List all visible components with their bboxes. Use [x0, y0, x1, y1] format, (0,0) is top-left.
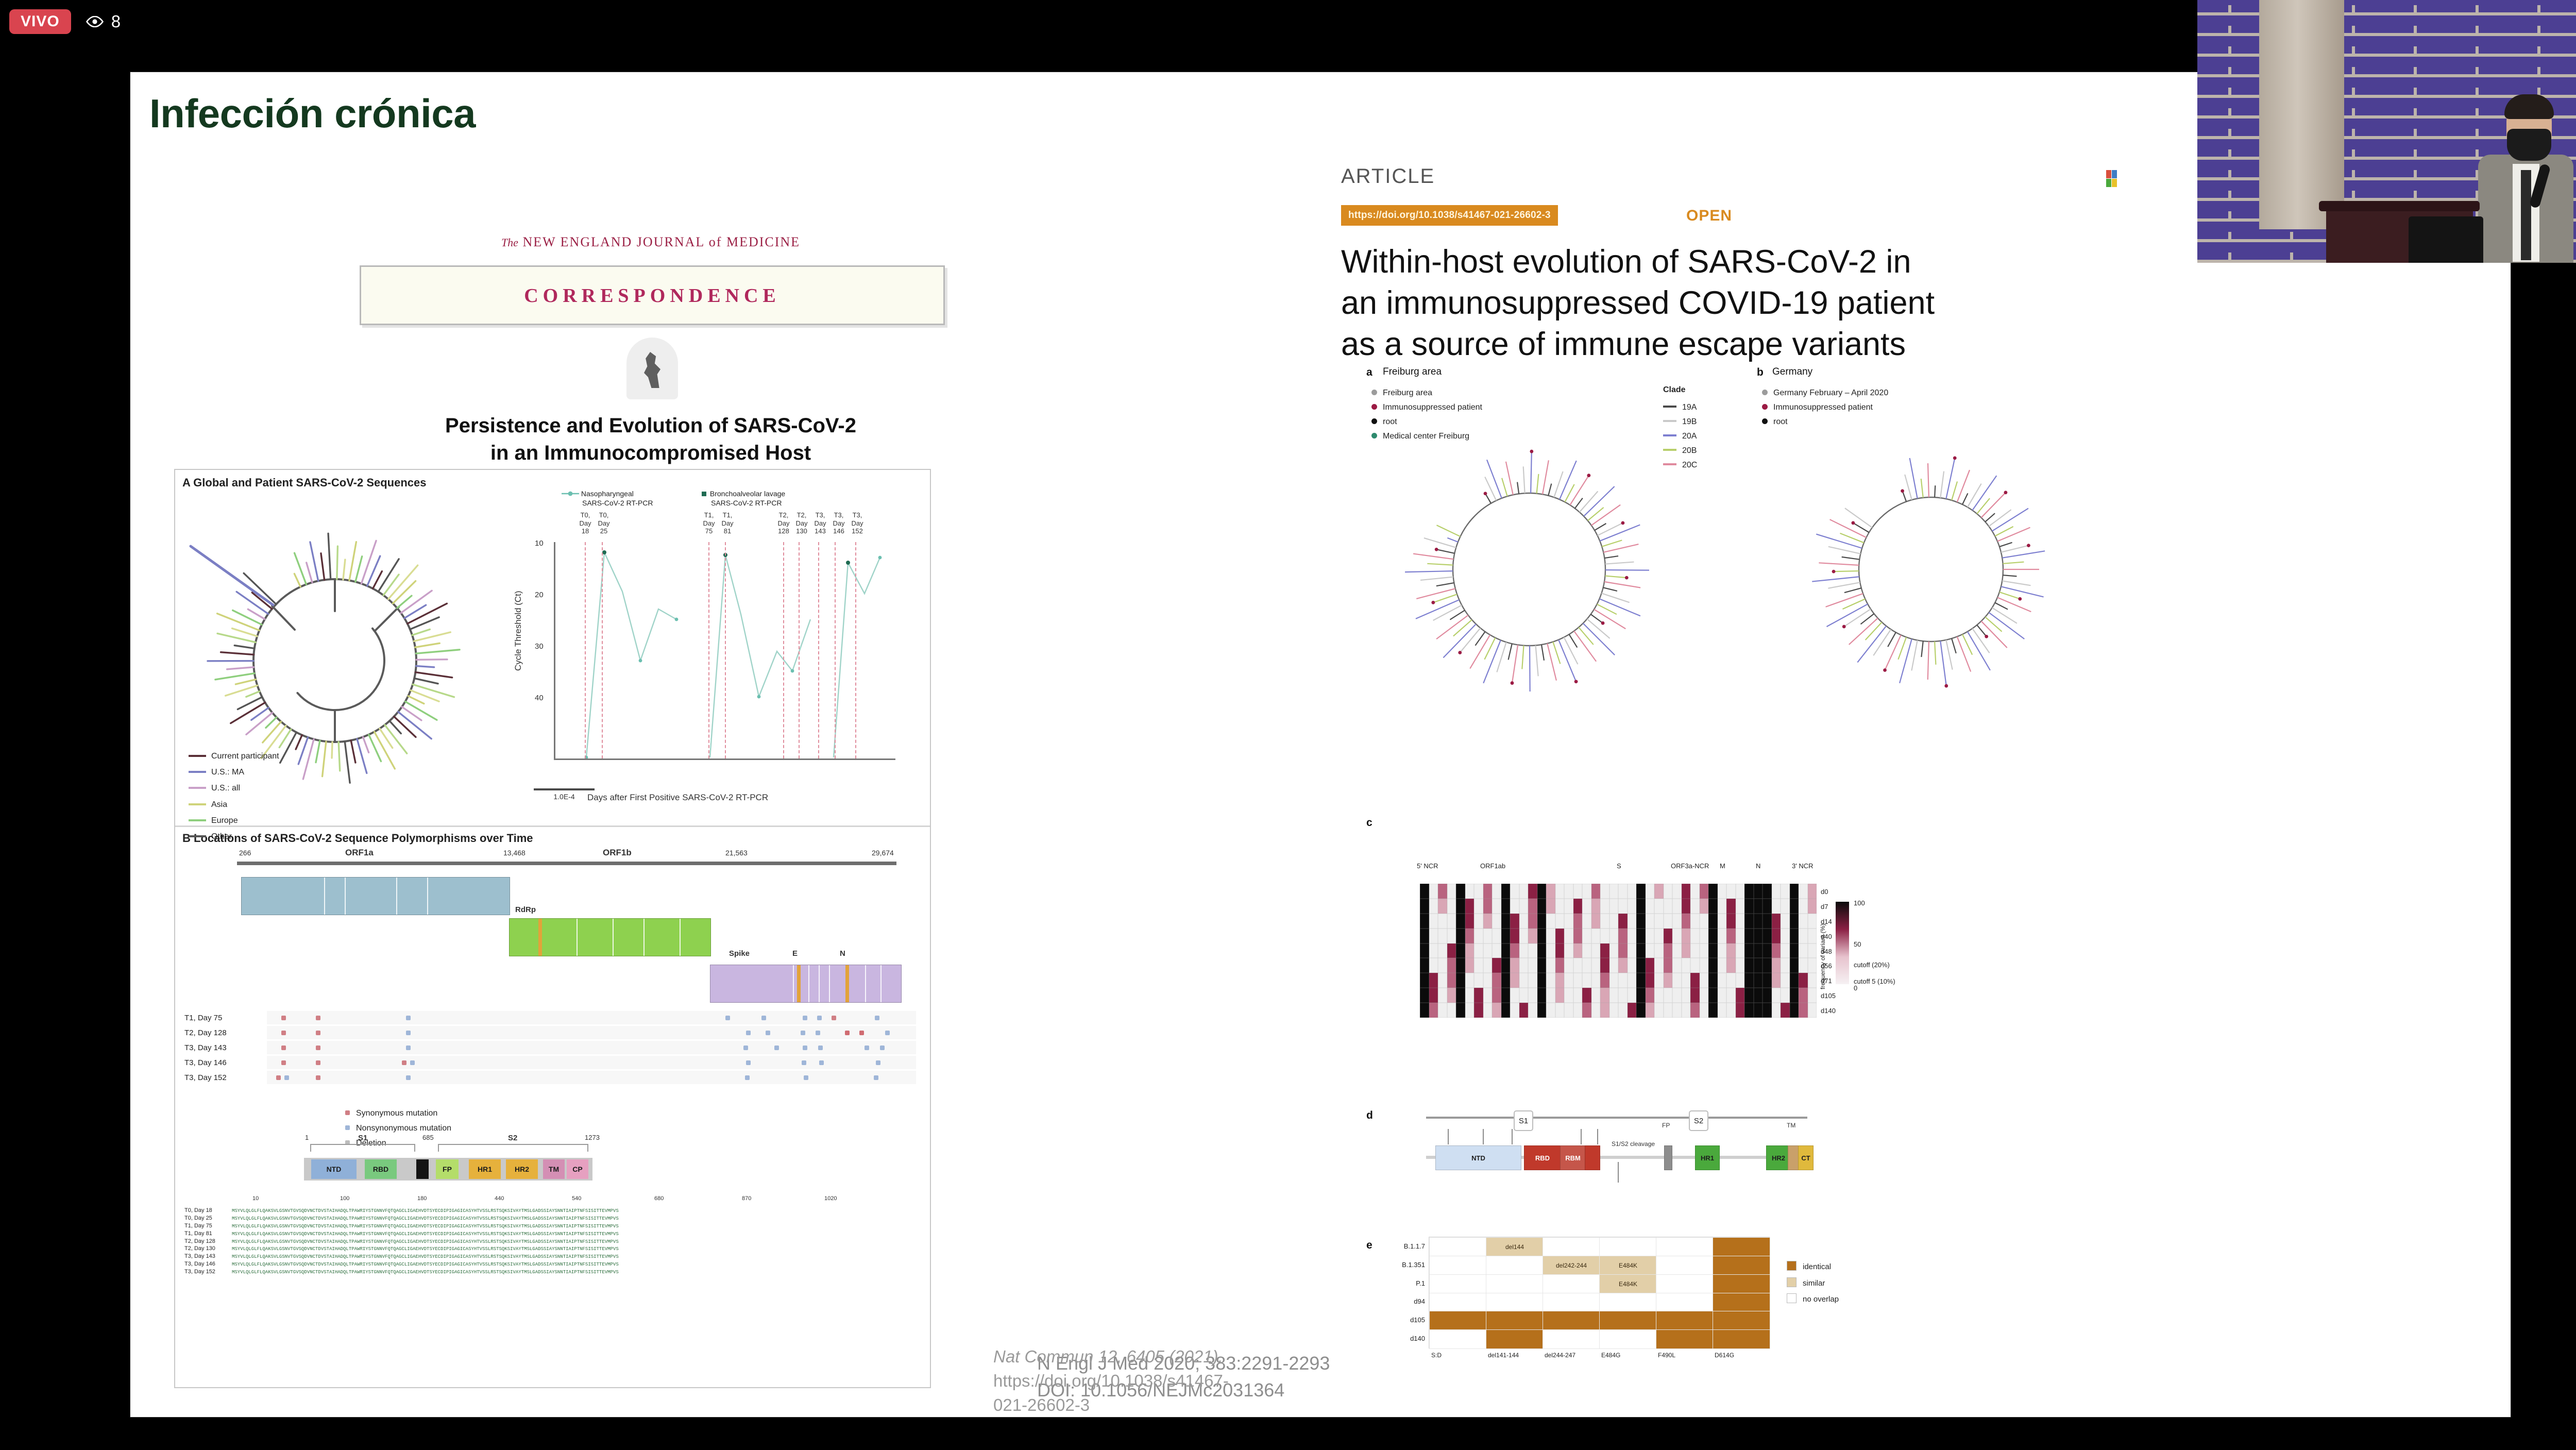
matrix-col-label: F490L: [1658, 1352, 1675, 1359]
left-article-title-line1: Persistence and Evolution of SARS-CoV-2: [269, 412, 1032, 440]
matrix-cell: [1543, 1311, 1600, 1330]
heatmap-cell: [1582, 884, 1591, 899]
matrix-cell: [1656, 1329, 1714, 1349]
legend-swatch: [189, 819, 206, 821]
heatmap-cell: [1781, 1003, 1790, 1018]
heatmap-cell: [1646, 884, 1655, 899]
y-tick: 40: [535, 694, 544, 702]
heatmap-cell: [1682, 899, 1691, 914]
heatmap-cell: [1618, 943, 1628, 958]
s1-box: S1: [1514, 1110, 1533, 1131]
legend-item: no overlap: [1787, 1291, 1839, 1308]
legend-label: U.S.: MA: [211, 768, 244, 777]
matrix-cell: [1429, 1274, 1487, 1294]
left-article-title-line2: in an Immunocompromised Host: [269, 440, 1032, 467]
tick: 180: [417, 1195, 427, 1202]
heatmap-cell: [1564, 943, 1573, 958]
heatmap-cell: [1546, 929, 1555, 943]
heatmap-cell: [1808, 929, 1817, 943]
heatmap-cell: [1664, 899, 1673, 914]
heatmap-cell: [1429, 929, 1438, 943]
heatmap-cell: [1510, 973, 1519, 988]
heatmap-cell: [1682, 988, 1691, 1003]
matrix-cell: [1486, 1256, 1544, 1275]
legend-label: Synonymous mutation: [356, 1109, 437, 1118]
heatmap-cell: [1546, 988, 1555, 1003]
heatmap-cell: [1591, 914, 1601, 929]
genome-coord: 266: [239, 849, 251, 857]
wall-pillar: [2259, 0, 2344, 229]
heatmap-cell: [1646, 1003, 1655, 1018]
heatmap-cell: [1799, 899, 1808, 914]
heatmap-cell: [1483, 914, 1493, 929]
left-article-title: Persistence and Evolution of SARS-CoV-2 …: [269, 412, 1032, 467]
heatmap-cell: [1447, 929, 1456, 943]
heatmap-cell: [1564, 973, 1573, 988]
heatmap-cell: [1636, 973, 1646, 988]
timepoint-label: T3, Day 152: [844, 511, 871, 535]
heatmap-row-label: d140: [1821, 1007, 1836, 1015]
heatmap-cell: [1672, 958, 1682, 973]
heatmap-cell: [1646, 914, 1655, 929]
heatmap-cell: [1762, 914, 1772, 929]
heatmap-cell: [1636, 899, 1646, 914]
heatmap-cell: [1690, 914, 1700, 929]
heatmap-cell: [1672, 899, 1682, 914]
heatmap-cell: [1555, 973, 1565, 988]
heatmap-cell: [1510, 943, 1519, 958]
heatmap-cell: [1682, 973, 1691, 988]
legend-swatch: [189, 771, 206, 773]
heatmap-cell: [1600, 943, 1609, 958]
heatmap-cell: [1654, 899, 1664, 914]
heatmap-cell: [1582, 943, 1591, 958]
heatmap-cell: [1492, 958, 1501, 973]
live-badge: VIVO: [9, 9, 71, 34]
domain-rbd: RBD: [1524, 1145, 1561, 1170]
heatmap-cell: [1718, 914, 1727, 929]
heatmap-cell: [1664, 973, 1673, 988]
heatmap-cell: [1808, 884, 1817, 899]
row-label: T0, Day 25: [184, 1215, 232, 1222]
heatmap-cell: [1754, 884, 1763, 899]
row-label: T2, Day 130: [184, 1245, 232, 1253]
heatmap-cell: [1690, 943, 1700, 958]
region-label: 3' NCR: [1792, 862, 1814, 870]
heatmap-cell: [1744, 988, 1754, 1003]
row-label: T3, Day 143: [184, 1253, 232, 1260]
heatmap-cell: [1528, 943, 1537, 958]
heatmap-cell: [1808, 943, 1817, 958]
matrix-cell: [1599, 1237, 1657, 1257]
matrix-cell: [1713, 1329, 1770, 1349]
legend-swatch: [189, 835, 206, 837]
heatmap-cell: [1438, 988, 1447, 1003]
heatmap-cell: [1726, 988, 1736, 1003]
matrix-cell: [1713, 1256, 1770, 1275]
matrix-col-label: S:D: [1431, 1352, 1442, 1359]
heatmap-cell: [1754, 929, 1763, 943]
heatmap-cell: [1744, 973, 1754, 988]
heatmap-cell: [1447, 973, 1456, 988]
heatmap-cell: [1808, 958, 1817, 973]
matrix-cell: [1486, 1274, 1544, 1294]
tick: 680: [654, 1195, 664, 1202]
genome-axis: [237, 862, 896, 865]
page-title: Infección crónica: [149, 90, 476, 137]
scale-label: 0: [1854, 984, 1857, 992]
matrix-cell: [1486, 1329, 1544, 1349]
heatmap-cell: [1564, 914, 1573, 929]
heatmap-cell: [1573, 899, 1583, 914]
heatmap-cell: [1654, 988, 1664, 1003]
heatmap-cell: [1420, 988, 1429, 1003]
heatmap-cell: [1618, 899, 1628, 914]
heatmap-cell: [1744, 884, 1754, 899]
heatmap-cell: [1582, 973, 1591, 988]
orf1a-block: [241, 877, 510, 915]
tick: 100: [340, 1195, 349, 1202]
heatmap-cell: [1456, 943, 1465, 958]
alignment-row: T3, Day 152MSYVLQLGLFLQAKSVLGSNVTGVSQDVN…: [184, 1268, 916, 1276]
heatmap-cell: [1781, 988, 1790, 1003]
heatmap-cell: [1726, 929, 1736, 943]
heatmap-cell: [1744, 929, 1754, 943]
heatmap-cell: [1582, 899, 1591, 914]
heatmap-cell: [1429, 973, 1438, 988]
heatmap-cell: [1672, 943, 1682, 958]
alignment-row: T3, Day 146MSYVLQLGLFLQAKSVLGSNVTGVSQDVN…: [184, 1260, 916, 1268]
heatmap-cell: [1537, 884, 1547, 899]
heatmap-cell: [1762, 943, 1772, 958]
domain-fp: FP: [436, 1159, 459, 1179]
doi-badge[interactable]: https://doi.org/10.1038/s41467-021-26602…: [1341, 205, 1558, 226]
matrix-col-label: del141-144: [1488, 1352, 1519, 1359]
scale-label: 50: [1854, 940, 1861, 948]
heatmap-cell: [1555, 929, 1565, 943]
heatmap-cell: [1700, 929, 1709, 943]
heatmap-cell: [1799, 958, 1808, 973]
heatmap-cell: [1781, 914, 1790, 929]
heatmap-cell: [1628, 943, 1637, 958]
heatmap-cell: [1628, 884, 1637, 899]
heatmap-row-label: d105: [1821, 992, 1836, 1000]
coord-start: 1: [305, 1134, 309, 1141]
row-label: T3, Day 152: [184, 1073, 267, 1082]
legend-label: Current participant: [211, 752, 279, 761]
heatmap-cell: [1618, 884, 1628, 899]
heatmap-cell: [1492, 929, 1501, 943]
panel-e-legend: identical similar no overlap: [1787, 1259, 1839, 1308]
heatmap-cell: [1628, 929, 1637, 943]
article-kicker: ARTICLE: [1341, 165, 1435, 188]
heatmap-cell: [1781, 973, 1790, 988]
heatmap-cell: [1555, 884, 1565, 899]
matrix-row-label: d140: [1389, 1335, 1425, 1342]
heatmap-cell: [1609, 929, 1619, 943]
heatmap-cell: [1537, 914, 1547, 929]
nature-figure: a Freiburg area Freiburg area Immunosupp…: [1359, 363, 2163, 1368]
rdrp-label: RdRp: [515, 905, 536, 914]
heatmap-cell: [1682, 958, 1691, 973]
heatmap-cell: [1690, 973, 1700, 988]
heatmap-cell: [1799, 988, 1808, 1003]
heatmap-cell: [1708, 914, 1718, 929]
heatmap-cell: [1790, 1003, 1799, 1018]
heatmap-cell: [1754, 943, 1763, 958]
matrix-cell: [1713, 1311, 1770, 1330]
heatmap-cell: [1772, 929, 1781, 943]
panel-d-letter: d: [1366, 1109, 1373, 1122]
heatmap-cell: [1726, 973, 1736, 988]
heatmap-cell: [1528, 973, 1537, 988]
heatmap-color-scale: [1836, 902, 1849, 984]
heatmap-cell: [1636, 943, 1646, 958]
heatmap-cell: [1582, 988, 1591, 1003]
heatmap-cell: [1492, 914, 1501, 929]
matrix-cell: [1429, 1293, 1487, 1312]
polymorphism-rows: T1, Day 75 T2, Day 128 T3, Day 143 T3, D…: [184, 1011, 916, 1086]
heatmap-cell: [1519, 884, 1529, 899]
fp-marker: [1664, 1145, 1672, 1170]
heatmap-cell: [1682, 914, 1691, 929]
heatmap-cell: [1808, 899, 1817, 914]
heatmap-cell: [1483, 973, 1493, 988]
heatmap-cell: [1799, 943, 1808, 958]
heatmap-cell: [1736, 988, 1745, 1003]
heatmap-cell: [1781, 943, 1790, 958]
heatmap-cell: [1492, 973, 1501, 988]
heatmap-cell: [1628, 899, 1637, 914]
heatmap-cell: [1429, 899, 1438, 914]
viewer-count: 8: [111, 12, 121, 31]
heatmap-cell: [1510, 1003, 1519, 1018]
heatmap-cell: [1754, 899, 1763, 914]
inset-legend-bal: Bronchoalveolar lavage SARS-CoV-2 RT-PCR: [701, 490, 785, 508]
matrix-row-label: B.1.351: [1389, 1261, 1425, 1269]
e-gene-label: E: [792, 949, 798, 958]
legend-label: U.S.: all: [211, 784, 240, 793]
heatmap-cell: [1781, 899, 1790, 914]
heatmap-cell: [1636, 958, 1646, 973]
heatmap-cell: [1546, 1003, 1555, 1018]
heatmap-cell: [1600, 914, 1609, 929]
legend-label: similar: [1803, 1279, 1825, 1288]
heatmap-cell: [1510, 929, 1519, 943]
heatmap-cell: [1555, 943, 1565, 958]
heatmap-cell: [1474, 899, 1483, 914]
heatmap-cell: [1420, 943, 1429, 958]
heatmap-cell: [1672, 988, 1682, 1003]
timepoint-label: T0, Day 25: [590, 511, 617, 535]
heatmap-cell: [1726, 1003, 1736, 1018]
heatmap-cell: [1772, 988, 1781, 1003]
nasopharyngeal-marker-icon: [562, 491, 579, 497]
heatmap-cell: [1708, 958, 1718, 973]
fp-annotation: FP: [1662, 1122, 1670, 1129]
viewer-count-group: 8: [86, 12, 121, 31]
heatmap-cell: [1528, 1003, 1537, 1018]
heatmap-cell: [1510, 988, 1519, 1003]
heatmap-cell: [1762, 929, 1772, 943]
heatmap-cell: [1537, 943, 1547, 958]
matrix-cell: [1543, 1293, 1600, 1312]
journal-masthead: The NEW ENGLAND JOURNAL of MEDICINE: [393, 234, 908, 250]
heatmap-cell: [1546, 973, 1555, 988]
heatmap-cell: [1799, 973, 1808, 988]
heatmap-cell: [1564, 988, 1573, 1003]
heatmap-cell: [1483, 988, 1493, 1003]
heatmap-cell: [1682, 929, 1691, 943]
heatmap-cell: [1483, 884, 1493, 899]
heatmap-cell: [1700, 884, 1709, 899]
heatmap-cell: [1618, 988, 1628, 1003]
heatmap-cell: [1510, 884, 1519, 899]
tick: 870: [742, 1195, 751, 1202]
heatmap-cell: [1564, 1003, 1573, 1018]
region-label: ORF3a-NCR: [1671, 862, 1709, 870]
coord-end: 1273: [585, 1134, 600, 1141]
presentation-slide: Infección crónica The NEW ENGLAND JOURNA…: [130, 72, 2511, 1417]
heatmap-cell: [1808, 1003, 1817, 1018]
matrix-cell: [1713, 1274, 1770, 1294]
coord-cleavage: 685: [422, 1134, 434, 1141]
face-mask-icon: [2507, 129, 2551, 161]
matrix-cell: [1543, 1274, 1600, 1294]
heatmap-cell: [1591, 929, 1601, 943]
heatmap-cell: [1492, 988, 1501, 1003]
heatmap-cell: [1646, 973, 1655, 988]
heatmap-cell: [1465, 973, 1475, 988]
heatmap-cell: [1646, 929, 1655, 943]
stream-status-bar: VIVO 8: [9, 9, 121, 34]
heatmap-cell: [1474, 973, 1483, 988]
mutation-heatmap: d0d7d14d40d48d56d71d105d140: [1420, 884, 1817, 1018]
heatmap-cell: [1528, 914, 1537, 929]
heatmap-cell: [1736, 914, 1745, 929]
heatmap-cell: [1474, 958, 1483, 973]
heatmap-cell: [1700, 943, 1709, 958]
heatmap-cell: [1546, 899, 1555, 914]
heatmap-cell: [1447, 884, 1456, 899]
structural-genes-block: [710, 965, 902, 1003]
variant-comparison-matrix: del144B.1.1.7del242-244E484KB.1.351E484K…: [1429, 1237, 1770, 1348]
heatmap-cell: [1744, 1003, 1754, 1018]
heatmap-cell: [1672, 973, 1682, 988]
matrix-cell: del242-244: [1543, 1256, 1600, 1275]
heatmap-cell: [1654, 884, 1664, 899]
heatmap-cell: [1672, 884, 1682, 899]
timepoint-label: T1, Day 81: [714, 511, 741, 535]
matrix-cell: del144: [1486, 1237, 1544, 1257]
heatmap-cell: [1591, 943, 1601, 958]
heatmap-cell: [1736, 973, 1745, 988]
heatmap-cell: [1465, 884, 1475, 899]
heatmap-cell: [1664, 929, 1673, 943]
heatmap-cell: [1708, 884, 1718, 899]
heatmap-cell: [1628, 1003, 1637, 1018]
heatmap-cell: [1546, 943, 1555, 958]
heatmap-cell: [1672, 1003, 1682, 1018]
heatmap-cell: [1429, 988, 1438, 1003]
heatmap-cell: [1618, 929, 1628, 943]
heatmap-cell: [1690, 1003, 1700, 1018]
right-citation: Nat Commun 12, 6405 (2021). https://doi.…: [993, 1345, 1261, 1417]
legend-swatch: [345, 1110, 350, 1115]
heatmap-cell: [1700, 1003, 1709, 1018]
panel-a-legend: Current participant U.S.: MA U.S.: all A…: [189, 748, 279, 845]
heatmap-cell: [1537, 973, 1547, 988]
heatmap-cell: [1654, 943, 1664, 958]
heatmap-cell: [1582, 914, 1591, 929]
s2-box: S2: [1689, 1110, 1708, 1131]
matrix-cell: [1486, 1293, 1544, 1312]
legend-swatch: [189, 755, 206, 757]
heatmap-cell: [1501, 988, 1511, 1003]
genome-coord: 21,563: [725, 849, 748, 857]
heatmap-cell: [1790, 958, 1799, 973]
heatmap-cell: [1790, 988, 1799, 1003]
heatmap-cell: [1420, 1003, 1429, 1018]
heatmap-cell: [1700, 988, 1709, 1003]
heatmap-cell: [1429, 914, 1438, 929]
domain-hr1: HR1: [469, 1159, 501, 1179]
speaker-video-pip[interactable]: [2197, 0, 2576, 263]
heatmap-cell: [1799, 929, 1808, 943]
heatmap-cell: [1708, 1003, 1718, 1018]
heatmap-cell: [1600, 1003, 1609, 1018]
spike-domain-bar: NTD RBD FP HR1 HR2 TM CP: [304, 1158, 592, 1181]
region-label: M: [1720, 862, 1725, 870]
heatmap-cell: [1609, 1003, 1619, 1018]
heatmap-cell: [1492, 1003, 1501, 1018]
legend-label: Asia: [211, 800, 227, 809]
heatmap-cell: [1483, 958, 1493, 973]
domain-ntd: NTD: [1435, 1145, 1521, 1170]
heatmap-cell: [1492, 884, 1501, 899]
heatmap-cell: [1772, 884, 1781, 899]
legend-label: Nasopharyngeal: [581, 490, 634, 498]
heatmap-cell: [1664, 884, 1673, 899]
legend-swatch: [189, 787, 206, 789]
heatmap-cell: [1736, 899, 1745, 914]
heatmap-cell: [1510, 899, 1519, 914]
heatmap-cell: [1447, 914, 1456, 929]
heatmap-cell: [1546, 914, 1555, 929]
heatmap-cell: [1501, 899, 1511, 914]
heatmap-cell: [1762, 884, 1772, 899]
heatmap-cell: [1537, 988, 1547, 1003]
heatmap-cell: [1654, 958, 1664, 973]
scale-label: cutoff 5 (10%): [1854, 977, 1895, 985]
heatmap-cell: [1465, 899, 1475, 914]
heatmap-cell: [1600, 884, 1609, 899]
heatmap-cell: [1519, 1003, 1529, 1018]
orf1a-label: ORF1a: [345, 848, 374, 858]
heatmap-cell: [1799, 884, 1808, 899]
heatmap-cell: [1790, 943, 1799, 958]
y-tick: 30: [535, 642, 544, 651]
matrix-cell: [1713, 1293, 1770, 1312]
heatmap-cell: [1790, 973, 1799, 988]
heatmap-cell: [1447, 1003, 1456, 1018]
heatmap-cell: [1438, 943, 1447, 958]
matrix-cell: [1486, 1311, 1544, 1330]
heatmap-cell: [1744, 958, 1754, 973]
heatmap-cell: [1808, 973, 1817, 988]
row-label: T3, Day 143: [184, 1043, 267, 1052]
heatmap-row-label: d7: [1821, 903, 1828, 911]
